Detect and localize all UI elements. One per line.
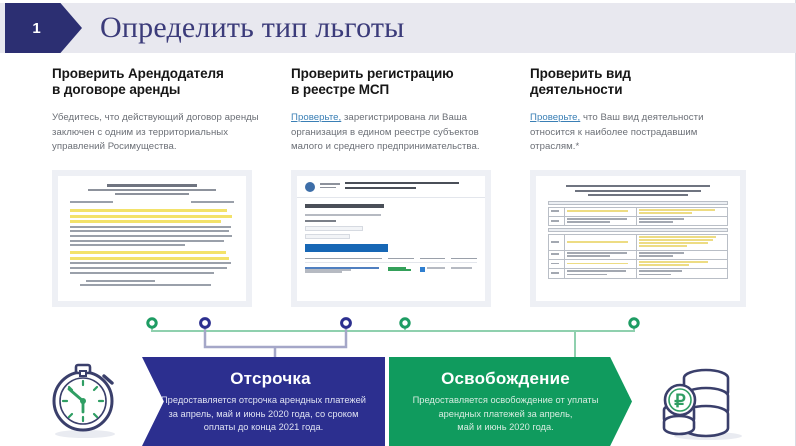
- msp-registry-search-results: [297, 176, 485, 301]
- connector-line-green-4: [575, 323, 634, 331]
- table-row[interactable]: [305, 267, 477, 272]
- column-landlord: Проверить Арендодателя в договоре аренды…: [52, 66, 270, 155]
- stopwatch-icon: [36, 352, 134, 442]
- search-filter-field[interactable]: [305, 226, 363, 231]
- thumbnail-lease-contract[interactable]: [52, 170, 252, 307]
- connector-line-green-3: [346, 331, 575, 357]
- banner-deferral: Отсрочка Предоставляется отсрочка арендн…: [142, 357, 385, 446]
- thumbnail-okved-table[interactable]: [530, 170, 746, 307]
- column-landlord-body: Убедитесь, что действующий договор аренд…: [52, 111, 270, 155]
- thumbnail-msp-registry[interactable]: [291, 170, 491, 307]
- ruble-coins-icon: ₽: [656, 356, 752, 442]
- connector-bracket-navy: [205, 323, 346, 347]
- search-submit-button[interactable]: [305, 244, 388, 252]
- connector-node-green-1: [148, 319, 156, 327]
- fns-logo-icon: [305, 182, 315, 192]
- column-msp-registry-body: Проверьте, зарегистрирована ли Ваша орга…: [291, 111, 507, 155]
- banner-exemption-title: Освобождение: [389, 369, 632, 389]
- column-landlord-text: Убедитесь, что действующий договор аренд…: [52, 112, 259, 152]
- connector-node-navy-1: [201, 319, 210, 328]
- column-msp-registry: Проверить регистрацию в реестре МСП Пров…: [291, 66, 507, 155]
- lease-contract-document: [58, 176, 246, 301]
- svg-text:₽: ₽: [674, 391, 686, 411]
- banner-deferral-text: Предоставляется отсрочка арендных платеж…: [142, 394, 385, 435]
- column-activity-type-title: Проверить вид деятельности: [530, 66, 746, 98]
- connector-line-green-1: [152, 323, 205, 331]
- connector-node-green-2: [401, 319, 409, 327]
- page-title: Определить тип льготы: [100, 6, 405, 50]
- banner-exemption-text: Предоставляется освобождение от уплаты а…: [389, 394, 632, 435]
- column-activity-type: Проверить вид деятельности Проверьте, чт…: [530, 66, 746, 155]
- activity-type-check-link[interactable]: Проверьте,: [530, 112, 580, 123]
- connector-node-navy-2: [342, 319, 351, 328]
- column-msp-registry-title: Проверить регистрацию в реестре МСП: [291, 66, 507, 98]
- search-filter-field-2[interactable]: [305, 234, 350, 239]
- slide-canvas: 1 Определить тип льготы Проверить Арендо…: [0, 0, 796, 446]
- banner-exemption: Освобождение Предоставляется освобождени…: [389, 357, 632, 446]
- search-results-heading: [305, 204, 384, 208]
- connector-node-green-3: [630, 319, 638, 327]
- column-landlord-title: Проверить Арендодателя в договоре аренды: [52, 66, 270, 98]
- okved-activity-table: [536, 176, 740, 301]
- step-number-label: 1: [32, 20, 40, 37]
- banner-deferral-title: Отсрочка: [142, 369, 385, 389]
- column-activity-type-body: Проверьте, что Ваш вид деятельности отно…: [530, 111, 746, 155]
- msp-registry-check-link[interactable]: Проверьте,: [291, 112, 341, 123]
